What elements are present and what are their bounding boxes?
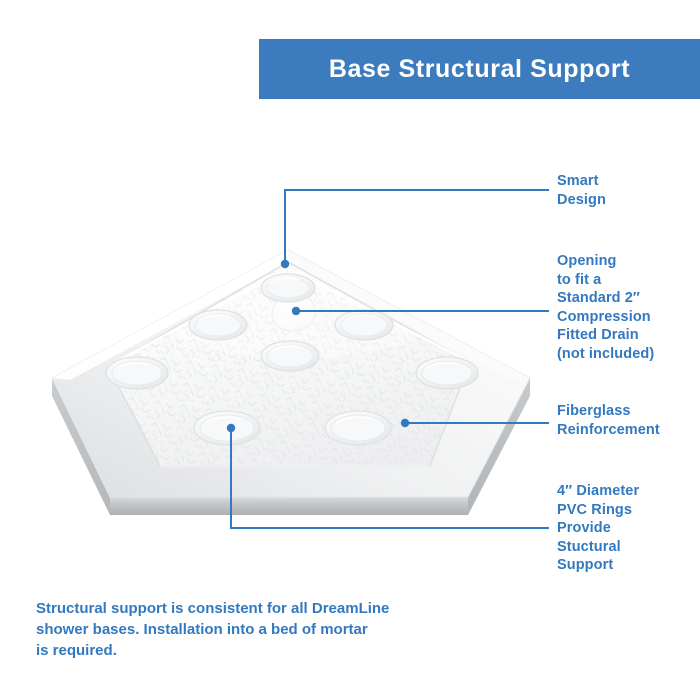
leader-line-smart-design <box>285 190 548 264</box>
pvc-ring <box>325 411 391 445</box>
callout-label-pvc-rings: 4″ Diameter PVC Rings Provide Stuctural … <box>557 482 639 575</box>
base-side-front <box>110 497 468 515</box>
product-diagram-page: Base Structural Support Smart Design Ope… <box>0 0 700 700</box>
pvc-ring <box>261 341 319 371</box>
pvc-ring <box>106 357 168 389</box>
callout-label-fiberglass-reinforcement: Fiberglass Reinforcement <box>557 402 660 439</box>
pvc-ring <box>335 310 393 340</box>
callout-label-drain-opening: Opening to fit a Standard 2″ Compression… <box>557 252 654 364</box>
leader-dot-fiberglass <box>401 419 409 427</box>
leader-dot-drain-opening <box>292 307 300 315</box>
callout-label-smart-design: Smart Design <box>557 172 606 209</box>
pvc-ring <box>189 310 247 340</box>
header-banner: Base Structural Support <box>259 39 700 99</box>
pvc-ring <box>261 274 315 302</box>
page-title: Base Structural Support <box>329 55 630 84</box>
pvc-ring <box>416 357 478 389</box>
leader-dot-smart-design <box>281 260 289 268</box>
footer-caption: Structural support is consistent for all… <box>36 598 506 661</box>
leader-dot-pvc-rings <box>227 424 235 432</box>
